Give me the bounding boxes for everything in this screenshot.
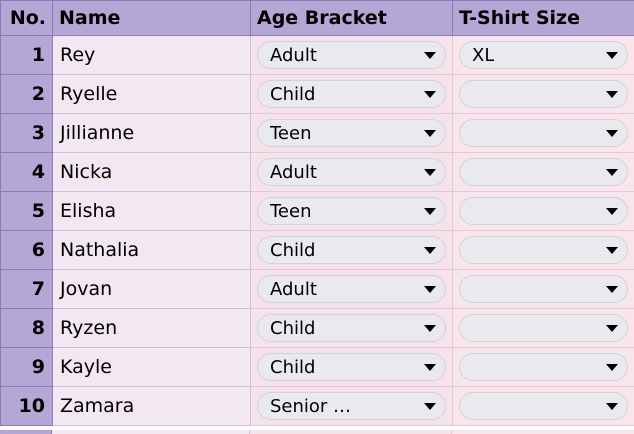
- table-row: 3JillianneTeen: [1, 114, 634, 153]
- tshirt-size-dropdown[interactable]: [459, 236, 628, 264]
- chevron-down-icon[interactable]: [424, 91, 436, 98]
- age-bracket-dropdown[interactable]: Senior …: [257, 392, 446, 420]
- tshirt-size-dropdown[interactable]: [459, 314, 628, 342]
- partial-row-shirt-cell: [452, 430, 634, 434]
- tshirt-size-dropdown[interactable]: [459, 158, 628, 186]
- name-cell[interactable]: Ryelle: [53, 75, 251, 114]
- tshirt-size-dropdown[interactable]: [459, 275, 628, 303]
- age-bracket-dropdown[interactable]: Teen: [257, 197, 446, 225]
- name-cell[interactable]: Nicka: [53, 153, 251, 192]
- age-bracket-cell: Adult: [251, 153, 453, 192]
- chevron-down-icon[interactable]: [606, 325, 618, 332]
- age-bracket-dropdown-value: Child: [270, 318, 315, 339]
- tshirt-size-cell: XL: [453, 36, 634, 75]
- table-row: 8RyzenChild: [1, 309, 634, 348]
- age-bracket-dropdown-value: Adult: [270, 279, 317, 300]
- age-bracket-dropdown-value: Teen: [270, 123, 312, 144]
- table-row: 10ZamaraSenior …: [1, 387, 634, 426]
- tshirt-size-cell: [453, 192, 634, 231]
- tshirt-size-dropdown[interactable]: [459, 392, 628, 420]
- column-header-name[interactable]: Name: [53, 1, 251, 36]
- tshirt-size-cell: [453, 270, 634, 309]
- tshirt-size-cell: [453, 153, 634, 192]
- chevron-down-icon[interactable]: [424, 208, 436, 215]
- table-row: 9KayleChild: [1, 348, 634, 387]
- table-row: 2RyelleChild: [1, 75, 634, 114]
- name-cell[interactable]: Kayle: [53, 348, 251, 387]
- chevron-down-icon[interactable]: [424, 286, 436, 293]
- age-bracket-cell: Teen: [251, 114, 453, 153]
- name-cell[interactable]: Zamara: [53, 387, 251, 426]
- spreadsheet-table-region: No. Name Age Bracket T-Shirt Size 1ReyAd…: [0, 0, 634, 434]
- name-cell[interactable]: Jillianne: [53, 114, 251, 153]
- table-header-row: No. Name Age Bracket T-Shirt Size: [1, 1, 634, 36]
- age-bracket-dropdown-value: Adult: [270, 162, 317, 183]
- age-bracket-cell: Teen: [251, 192, 453, 231]
- row-index-cell[interactable]: 1: [1, 36, 53, 75]
- age-bracket-dropdown[interactable]: Adult: [257, 158, 446, 186]
- age-bracket-cell: Senior …: [251, 387, 453, 426]
- age-bracket-dropdown[interactable]: Child: [257, 314, 446, 342]
- tshirt-size-cell: [453, 309, 634, 348]
- tshirt-size-cell: [453, 387, 634, 426]
- tshirt-size-cell: [453, 114, 634, 153]
- tshirt-size-dropdown[interactable]: [459, 119, 628, 147]
- partial-next-row: [0, 430, 634, 434]
- chevron-down-icon[interactable]: [606, 208, 618, 215]
- chevron-down-icon[interactable]: [424, 325, 436, 332]
- age-bracket-dropdown-value: Teen: [270, 201, 312, 222]
- age-bracket-cell: Child: [251, 75, 453, 114]
- tshirt-size-dropdown[interactable]: [459, 353, 628, 381]
- column-header-no[interactable]: No.: [1, 1, 53, 36]
- chevron-down-icon[interactable]: [424, 247, 436, 254]
- chevron-down-icon[interactable]: [424, 364, 436, 371]
- age-bracket-cell: Adult: [251, 270, 453, 309]
- tshirt-size-dropdown[interactable]: [459, 197, 628, 225]
- table-row: 1ReyAdultXL: [1, 36, 634, 75]
- age-bracket-cell: Child: [251, 309, 453, 348]
- age-bracket-dropdown-value: Child: [270, 240, 315, 261]
- table-body: 1ReyAdultXL2RyelleChild3JillianneTeen4Ni…: [1, 36, 634, 426]
- chevron-down-icon[interactable]: [424, 130, 436, 137]
- tshirt-size-dropdown[interactable]: [459, 80, 628, 108]
- chevron-down-icon[interactable]: [424, 169, 436, 176]
- row-index-cell[interactable]: 8: [1, 309, 53, 348]
- tshirt-size-cell: [453, 348, 634, 387]
- row-index-cell[interactable]: 9: [1, 348, 53, 387]
- age-bracket-dropdown[interactable]: Child: [257, 353, 446, 381]
- tshirt-size-cell: [453, 75, 634, 114]
- chevron-down-icon[interactable]: [606, 52, 618, 59]
- age-bracket-dropdown[interactable]: Child: [257, 236, 446, 264]
- age-bracket-dropdown-value: Child: [270, 84, 315, 105]
- chevron-down-icon[interactable]: [424, 52, 436, 59]
- partial-row-name-cell: [52, 430, 250, 434]
- name-cell[interactable]: Jovan: [53, 270, 251, 309]
- table-row: 4NickaAdult: [1, 153, 634, 192]
- chevron-down-icon[interactable]: [606, 130, 618, 137]
- name-cell[interactable]: Nathalia: [53, 231, 251, 270]
- chevron-down-icon[interactable]: [606, 91, 618, 98]
- age-bracket-dropdown-value: Senior …: [270, 396, 351, 417]
- chevron-down-icon[interactable]: [606, 364, 618, 371]
- age-bracket-cell: Child: [251, 348, 453, 387]
- row-index-cell[interactable]: 6: [1, 231, 53, 270]
- age-bracket-dropdown[interactable]: Adult: [257, 275, 446, 303]
- age-bracket-cell: Adult: [251, 36, 453, 75]
- registration-table: No. Name Age Bracket T-Shirt Size 1ReyAd…: [0, 0, 634, 426]
- age-bracket-dropdown-value: Child: [270, 357, 315, 378]
- age-bracket-dropdown[interactable]: Teen: [257, 119, 446, 147]
- column-header-age[interactable]: Age Bracket: [251, 1, 453, 36]
- partial-row-index-cell: [0, 430, 52, 434]
- row-index-cell[interactable]: 10: [1, 387, 53, 426]
- table-row: 7JovanAdult: [1, 270, 634, 309]
- chevron-down-icon[interactable]: [606, 286, 618, 293]
- chevron-down-icon[interactable]: [606, 247, 618, 254]
- row-index-cell[interactable]: 3: [1, 114, 53, 153]
- table-row: 5ElishaTeen: [1, 192, 634, 231]
- chevron-down-icon[interactable]: [606, 169, 618, 176]
- name-cell[interactable]: Rey: [53, 36, 251, 75]
- row-index-cell[interactable]: 7: [1, 270, 53, 309]
- age-bracket-cell: Child: [251, 231, 453, 270]
- tshirt-size-cell: [453, 231, 634, 270]
- row-index-cell[interactable]: 2: [1, 75, 53, 114]
- name-cell[interactable]: Elisha: [53, 192, 251, 231]
- row-index-cell[interactable]: 4: [1, 153, 53, 192]
- tshirt-size-dropdown-value: XL: [472, 45, 494, 66]
- chevron-down-icon[interactable]: [606, 403, 618, 410]
- age-bracket-dropdown[interactable]: Child: [257, 80, 446, 108]
- column-header-shirt[interactable]: T-Shirt Size: [453, 1, 634, 36]
- chevron-down-icon[interactable]: [424, 403, 436, 410]
- partial-row-age-cell: [250, 430, 452, 434]
- tshirt-size-dropdown[interactable]: XL: [459, 41, 628, 69]
- name-cell[interactable]: Ryzen: [53, 309, 251, 348]
- age-bracket-dropdown-value: Adult: [270, 45, 317, 66]
- row-index-cell[interactable]: 5: [1, 192, 53, 231]
- table-row: 6NathaliaChild: [1, 231, 634, 270]
- age-bracket-dropdown[interactable]: Adult: [257, 41, 446, 69]
